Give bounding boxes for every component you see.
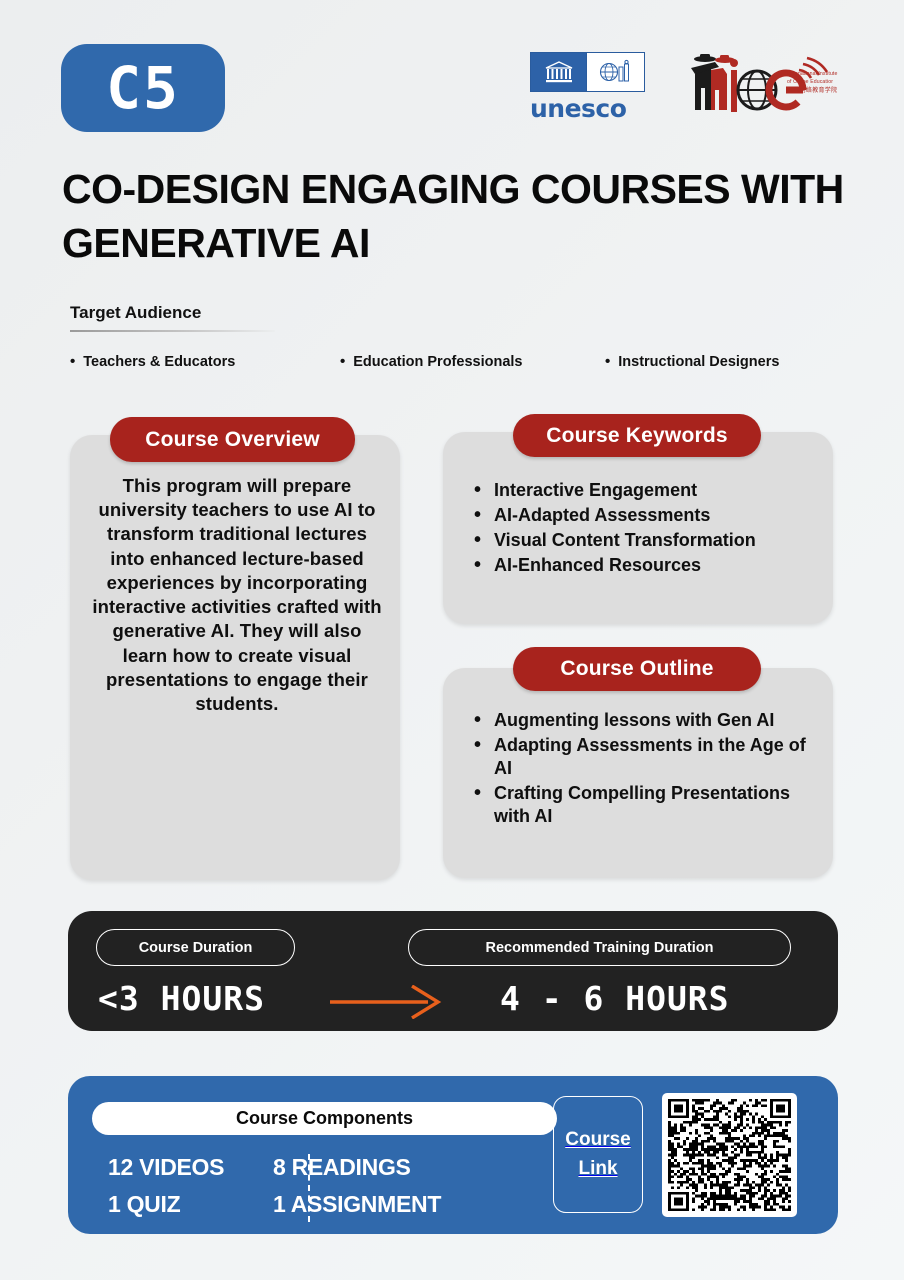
target-audience-item-label: Education Professionals xyxy=(353,354,522,370)
globe-people-icon xyxy=(586,53,644,91)
course-keywords-list: Interactive Engagement AI-Adapted Assess… xyxy=(470,479,820,579)
course-outline-pill-label: Course Outline xyxy=(560,657,713,681)
recommended-duration-chip: Recommended Training Duration xyxy=(408,929,791,966)
list-item: Interactive Engagement xyxy=(470,479,820,502)
course-overview-pill-label: Course Overview xyxy=(145,428,320,452)
list-item: Adapting Assessments in the Age of AI xyxy=(470,734,820,780)
course-outline-list: Augmenting lessons with Gen AI Adapting … xyxy=(470,709,820,830)
unesco-wordmark: unesco xyxy=(530,96,645,121)
course-code-label: C5 xyxy=(106,54,180,122)
target-audience-list: • Teachers & Educators • Education Profe… xyxy=(70,353,860,370)
target-audience-section: Target Audience • Teachers & Educators •… xyxy=(70,303,860,370)
qr-code-canvas xyxy=(668,1099,791,1211)
course-link-label-line2: Link xyxy=(578,1155,617,1184)
course-link-button[interactable]: Course Link xyxy=(553,1096,643,1213)
target-audience-heading: Target Audience xyxy=(70,303,860,323)
target-audience-item: • Teachers & Educators xyxy=(70,353,340,370)
iioe-name-line1: International Institute xyxy=(787,71,871,79)
course-overview-pill: Course Overview xyxy=(110,417,355,462)
recommended-duration-value: 4 - 6 HOURS xyxy=(500,979,730,1018)
course-code-badge: C5 xyxy=(61,44,225,132)
recommended-duration-label: Recommended Training Duration xyxy=(486,940,714,956)
logo-group: unesco xyxy=(530,48,870,128)
arrow-right-icon xyxy=(328,985,448,1019)
course-overview-text: This program will prepare university tea… xyxy=(92,474,382,716)
bullet-icon: • xyxy=(340,353,345,370)
bullet-icon: • xyxy=(70,353,75,370)
course-keywords-pill: Course Keywords xyxy=(513,414,761,457)
course-components-grid: 12 VIDEOS 8 READINGS 1 QUIZ 1 ASSIGNMENT xyxy=(108,1149,558,1223)
unesco-logo: unesco xyxy=(530,52,645,121)
course-components-title: Course Components xyxy=(236,1108,413,1129)
page-title: CO-DESIGN ENGAGING COURSES WITH GENERATI… xyxy=(62,162,862,270)
target-audience-item-label: Instructional Designers xyxy=(618,354,779,370)
course-keywords-pill-label: Course Keywords xyxy=(546,424,728,448)
list-item: Augmenting lessons with Gen AI xyxy=(470,709,820,732)
temple-icon xyxy=(531,53,586,91)
quiz-count: 1 QUIZ xyxy=(108,1191,273,1218)
iioe-name-chinese: 国际网络教育学院 xyxy=(787,87,871,96)
readings-count: 8 READINGS xyxy=(273,1154,411,1181)
list-item: AI-Enhanced Resources xyxy=(470,554,820,577)
list-item: AI-Adapted Assessments xyxy=(470,504,820,527)
target-audience-item: • Education Professionals xyxy=(340,353,605,370)
course-components-title-box: Course Components xyxy=(92,1102,557,1135)
target-audience-item-label: Teachers & Educators xyxy=(83,354,235,370)
components-row: 1 QUIZ 1 ASSIGNMENT xyxy=(108,1186,558,1223)
target-audience-item: • Instructional Designers xyxy=(605,353,779,370)
course-link-label-line1: Course xyxy=(565,1126,630,1155)
course-duration-value: <3 HOURS xyxy=(98,979,265,1018)
assignment-count: 1 ASSIGNMENT xyxy=(273,1191,441,1218)
components-row: 12 VIDEOS 8 READINGS xyxy=(108,1149,558,1186)
course-outline-pill: Course Outline xyxy=(513,647,761,691)
course-duration-chip: Course Duration xyxy=(96,929,295,966)
iioe-logo: International Institute of Online Educat… xyxy=(675,48,870,120)
duration-bar: Course Duration Recommended Training Dur… xyxy=(68,911,838,1031)
course-duration-label: Course Duration xyxy=(139,940,253,956)
list-item: Crafting Compelling Presentations with A… xyxy=(470,782,820,828)
course-components-bar: Course Components 12 VIDEOS 8 READINGS 1… xyxy=(68,1076,838,1234)
components-divider xyxy=(308,1154,310,1222)
header: C5 xyxy=(0,0,904,150)
bullet-icon: • xyxy=(605,353,610,370)
list-item: Visual Content Transformation xyxy=(470,529,820,552)
videos-count: 12 VIDEOS xyxy=(108,1154,273,1181)
iioe-name-line2: of Online Educatior xyxy=(787,79,871,87)
qr-code-icon[interactable] xyxy=(662,1093,797,1217)
unesco-emblem xyxy=(530,52,645,92)
iioe-name: International Institute of Online Educat… xyxy=(787,71,871,96)
target-audience-divider xyxy=(70,330,275,332)
